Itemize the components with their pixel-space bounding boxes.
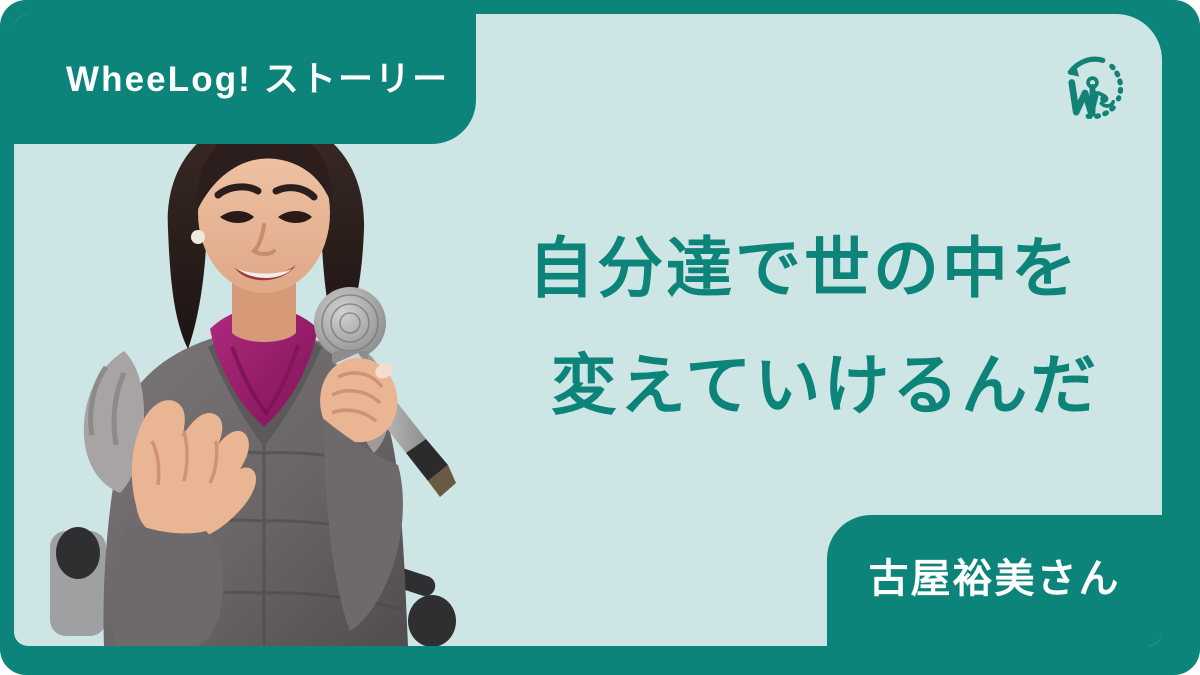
wheelog-logo-icon: [1054, 50, 1128, 124]
headline: 自分達で世の中を 変えていけるんだ: [444, 210, 1162, 445]
story-card: WheeLog! ストーリー: [0, 0, 1200, 675]
sleeve-left: [111, 521, 224, 646]
earring: [191, 230, 205, 244]
headline-line-2: 変えていけるんだ: [486, 327, 1162, 444]
header-badge: WheeLog! ストーリー: [14, 14, 476, 144]
header-badge-label: WheeLog! ストーリー: [14, 62, 449, 97]
name-badge: 古屋裕美さん: [827, 515, 1162, 646]
card-panel: WheeLog! ストーリー: [14, 14, 1162, 646]
portrait-photo: [32, 101, 502, 646]
headline-line-1: 自分達で世の中を: [444, 210, 1162, 327]
name-badge-label: 古屋裕美さん: [869, 559, 1121, 603]
